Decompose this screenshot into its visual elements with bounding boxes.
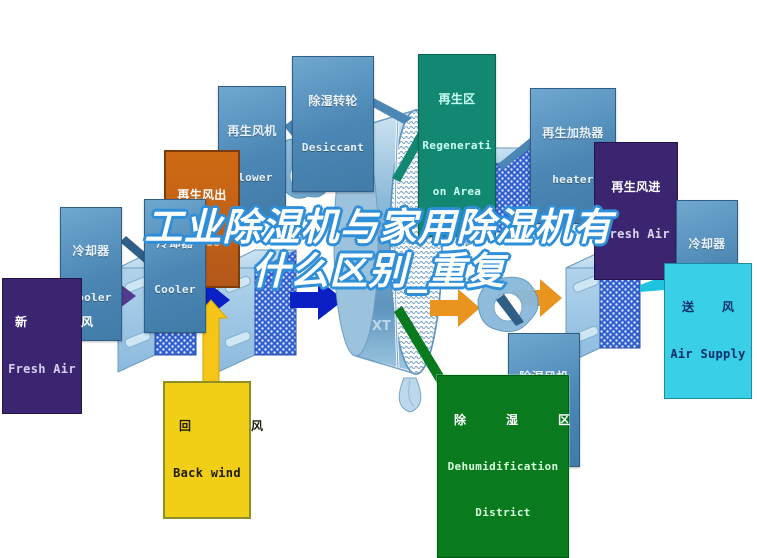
label-dehumidification-district-en-1: Dehumidification [440, 461, 566, 473]
label-cooler-left-lower-en: Cooler [147, 284, 203, 296]
label-cooler-left-lower[interactable]: 冷却器 Cooler [144, 199, 206, 333]
diagram-canvas: XT [0, 0, 757, 488]
label-regeneration-blower-cn: 再生风机 [221, 125, 283, 138]
label-regeneration-area-cn: 再生区 [421, 93, 493, 106]
label-regeneration-fresh-air-en: Fresh Air [597, 228, 675, 241]
rotor-mark: XT [372, 319, 391, 334]
label-desiccant-wheel-cn: 除湿转轮 [295, 95, 371, 108]
label-regeneration-area[interactable]: 再生区 Regenerati on Area [418, 54, 496, 237]
label-back-wind[interactable]: 回 风 Back wind [163, 381, 251, 519]
label-fresh-air-en: Fresh Air [5, 363, 79, 376]
label-back-wind-en: Back wind [167, 467, 247, 480]
label-regeneration-fresh-air-cn: 再生风进 [597, 181, 675, 194]
label-regeneration-heater-cn: 再生加热器 [533, 127, 613, 140]
label-dehumidification-district-cn: 除 湿 区 [440, 414, 566, 427]
label-dehumidification-district-en-2: District [440, 507, 566, 519]
label-regeneration-area-en-2: on Area [421, 186, 493, 198]
label-air-supply[interactable]: 送 风 Air Supply [664, 263, 752, 399]
label-cooler-left-upper-cn: 冷却器 [63, 245, 119, 258]
label-desiccant-wheel-en: Desiccant [295, 142, 371, 154]
label-desiccant-wheel[interactable]: 除湿转轮 Desiccant [292, 56, 374, 192]
label-air-supply-cn: 送 风 [667, 301, 749, 314]
label-cooler-right-cn: 冷却器 [679, 238, 735, 251]
label-air-supply-en: Air Supply [667, 348, 749, 361]
label-regeneration-fresh-air[interactable]: 再生风进 Fresh Air [594, 142, 678, 280]
label-regeneration-area-en-1: Regenerati [421, 140, 493, 152]
label-back-wind-cn: 回 风 [167, 420, 247, 433]
label-cooler-left-lower-cn: 冷却器 [147, 237, 203, 250]
label-fresh-air-cn: 新 风 [5, 316, 79, 329]
label-fresh-air[interactable]: 新 风 Fresh Air [2, 278, 82, 414]
label-dehumidification-district[interactable]: 除 湿 区 Dehumidification District [437, 375, 569, 558]
